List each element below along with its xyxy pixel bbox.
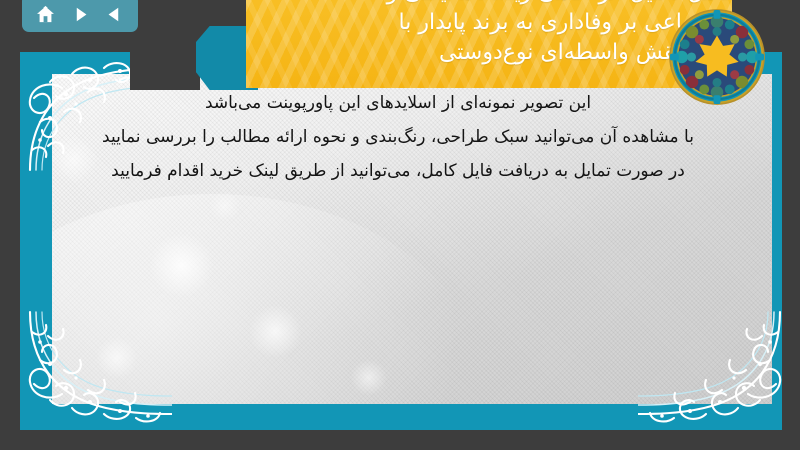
slide-canvas: کامل تحلیل اثر آگاهی زیست‌محیطی و اجتماع… (0, 0, 800, 450)
forward-arrow-icon[interactable] (67, 2, 93, 26)
light-sweep-decoration (52, 194, 492, 404)
body-line: این تصویر نمونه‌ای از اسلایدهای این پاور… (40, 86, 756, 120)
navigation-bar[interactable] (22, 0, 138, 32)
home-icon[interactable] (32, 2, 58, 26)
body-line: در صورت تمایل به دریافت فایل کامل، می‌تو… (40, 154, 756, 188)
islamic-medallion-ornament (668, 8, 766, 106)
back-arrow-icon[interactable] (102, 2, 128, 26)
connector-backing (130, 26, 200, 90)
slide-body-text: این تصویر نمونه‌ای از اسلایدهای این پاور… (40, 86, 756, 188)
body-line: با مشاهده آن می‌توانید سبک طراحی، رنگ‌بن… (40, 120, 756, 154)
